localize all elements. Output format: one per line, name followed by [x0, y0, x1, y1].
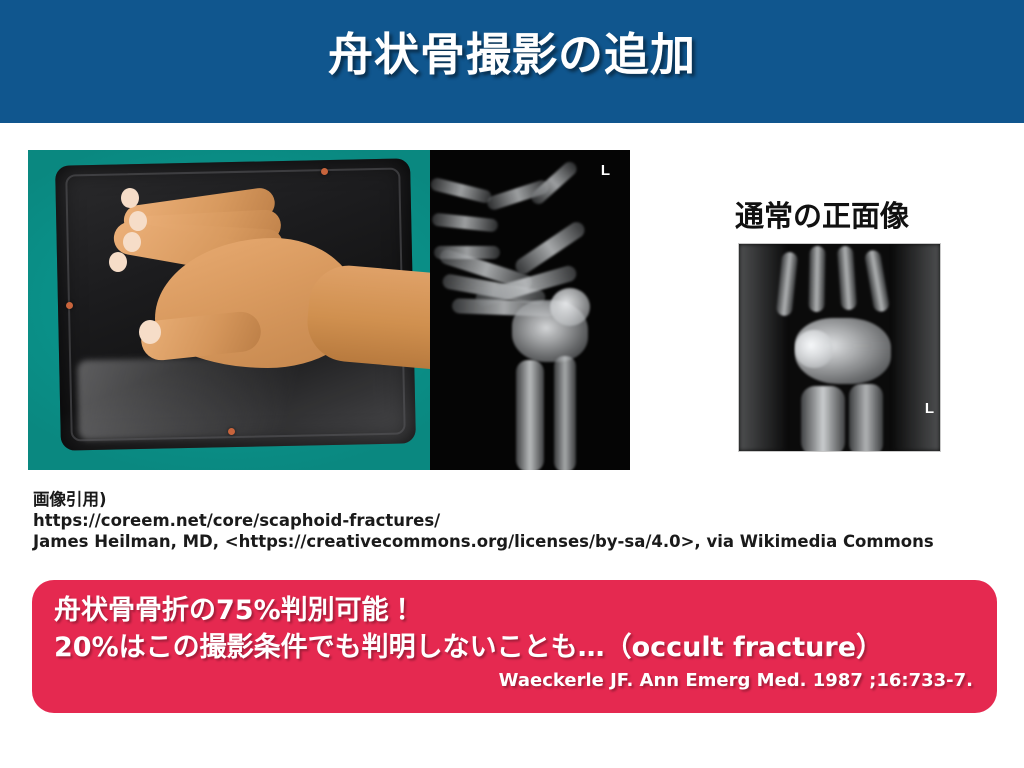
cassette-marker-dot	[66, 302, 73, 309]
metacarpal-bone	[864, 249, 891, 313]
phalanx-bone	[432, 213, 499, 233]
soft-tissue-shadow	[894, 244, 940, 451]
citation-attribution: James Heilman, MD, <https://creativecomm…	[33, 531, 993, 552]
metacarpal-bone	[512, 219, 587, 277]
fingernail	[129, 211, 147, 231]
metacarpal-bone	[837, 246, 857, 311]
fingernail	[121, 188, 139, 208]
scaphoid-view-radiograph: L	[430, 150, 630, 470]
hand-positioning-photo	[28, 150, 430, 470]
forearm	[304, 262, 430, 373]
laterality-marker-left: L	[601, 162, 610, 179]
callout-reference: Waeckerle JF. Ann Emerg Med. 1987 ;16:73…	[54, 670, 977, 691]
composite-figure: L	[28, 150, 630, 470]
citation-heading: 画像引用)	[33, 489, 993, 510]
radius-bone	[516, 360, 544, 470]
key-message-callout: 舟状骨骨折の75%判別可能！ 20%はこの撮影条件でも判明しないことも…（occ…	[32, 580, 997, 713]
laterality-marker-left: L	[925, 400, 934, 417]
cassette-marker-dot	[228, 428, 235, 435]
fingernail	[123, 232, 141, 252]
phalanx-bone	[430, 177, 493, 205]
scaphoid-bone	[795, 330, 833, 368]
image-citation-block: 画像引用) https://coreem.net/core/scaphoid-f…	[33, 489, 993, 552]
callout-line-2: 20%はこの撮影条件でも判明しないことも…（occult fracture）	[54, 629, 977, 666]
callout-line-1: 舟状骨骨折の75%判別可能！	[54, 592, 977, 629]
metacarpal-bone	[808, 246, 825, 312]
hand-illustration	[83, 164, 430, 404]
page-title: 舟状骨撮影の追加	[0, 18, 1024, 83]
soft-tissue-shadow	[739, 244, 785, 451]
thumbnail	[139, 320, 161, 344]
standard-ap-wrist-radiograph: L	[738, 243, 941, 452]
fingernail	[109, 252, 127, 272]
radius-bone	[801, 386, 845, 452]
citation-source-url: https://coreem.net/core/scaphoid-fractur…	[33, 510, 993, 531]
ulna-bone	[849, 384, 883, 452]
right-figure-label: 通常の正面像	[735, 193, 909, 235]
scaphoid-bone	[550, 288, 590, 326]
ulna-bone	[554, 356, 576, 470]
